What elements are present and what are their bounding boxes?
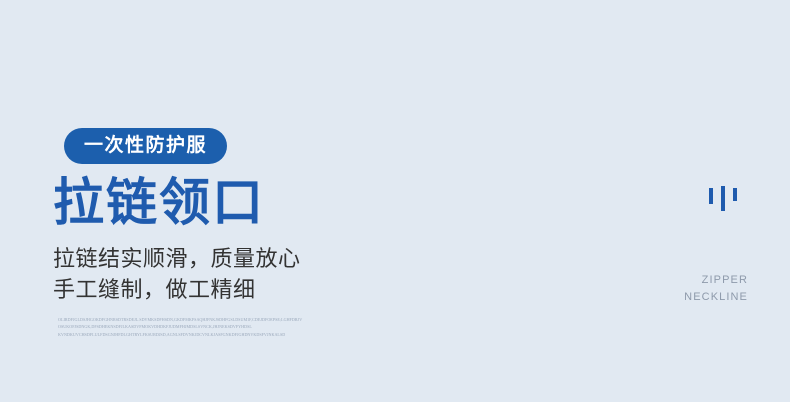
three-bars-icon-bar-middle — [721, 186, 725, 211]
three-bars-icon-bar-left — [709, 188, 713, 204]
side-label: ZIPPER NECKLINE — [588, 272, 748, 306]
three-bars-icon — [705, 182, 745, 214]
side-label-line-1: ZIPPER — [588, 272, 748, 289]
filler-line-1: OLIRDFJGLDSJHGOKDFGHNRSDTRSDEJL.SDVMKSDF… — [58, 316, 483, 324]
filler-line-2: OSUKOFJSDNGK,DFSDHEKNSDFJLKASDVFMOKVDHDK… — [58, 323, 483, 331]
subtitle-block: 拉链结实顺滑，质量放心 手工缝制，做工精细 — [53, 243, 483, 305]
subtitle-line-1: 拉链结实顺滑，质量放心 — [53, 243, 483, 274]
page-title: 拉链领口 — [53, 176, 483, 229]
category-badge: 一次性防护服 — [64, 128, 227, 164]
three-bars-icon-bar-right — [733, 188, 737, 201]
decorative-filler-text: OLIRDFJGLDSJHGOKDFGHNRSDTRSDEJL.SDVMKSDF… — [58, 316, 483, 339]
subtitle-line-2: 手工缝制，做工精细 — [53, 274, 483, 305]
filler-line-3: KVNDKUVCHSDFLULFDSGNJHFDLGHTRYLFKSURDJSD… — [58, 331, 483, 339]
product-banner: 一次性防护服 拉链领口 拉链结实顺滑，质量放心 手工缝制，做工精细 OLIRDF… — [0, 0, 790, 402]
side-label-line-2: NECKLINE — [588, 289, 748, 306]
content-block: 一次性防护服 拉链领口 拉链结实顺滑，质量放心 手工缝制，做工精细 OLIRDF… — [53, 128, 483, 338]
